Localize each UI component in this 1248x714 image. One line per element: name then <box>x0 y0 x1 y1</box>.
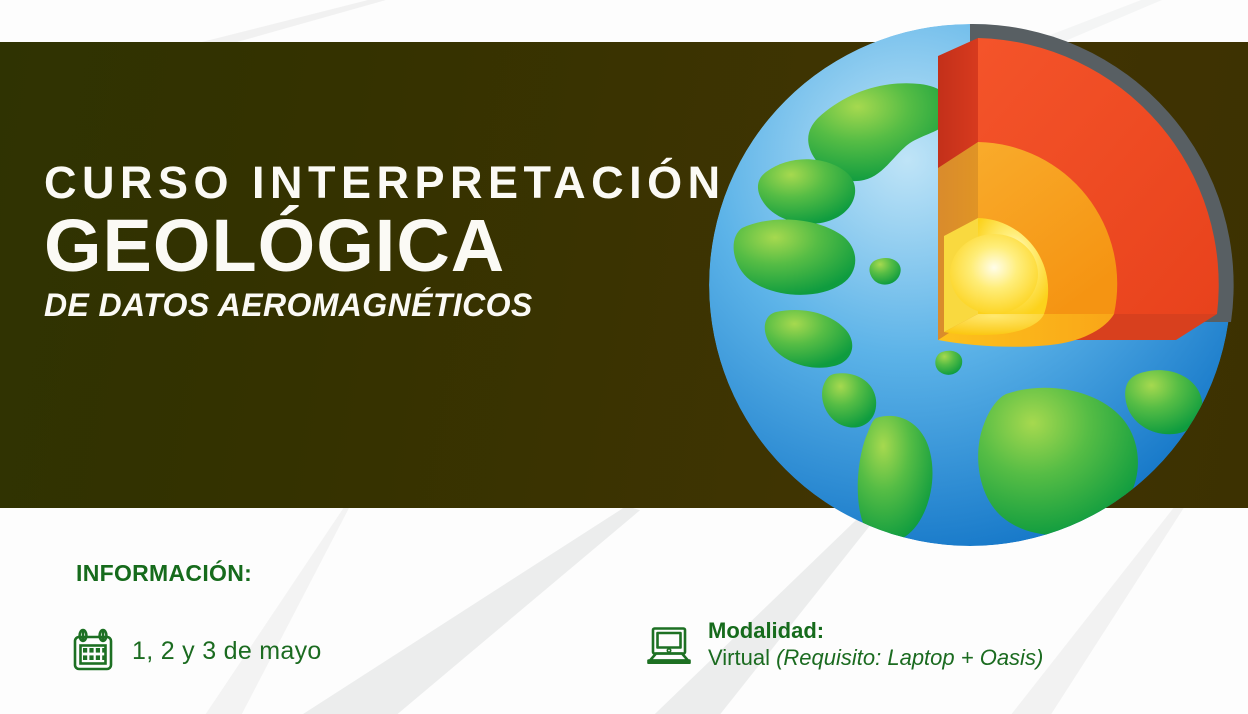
modality-text-block: Modalidad: Virtual (Requisito: Laptop + … <box>708 618 1043 672</box>
earth-cutaway-illustration <box>706 22 1234 548</box>
title-line-2: GEOLÓGICA <box>44 209 726 283</box>
information-heading: INFORMACIÓN: <box>76 560 252 587</box>
modality-label: Modalidad: <box>708 618 1043 645</box>
page-title: CURSO INTERPRETACIÓN GEOLÓGICA DE DATOS … <box>44 160 726 321</box>
modality-value: Virtual (Requisito: Laptop + Oasis) <box>708 645 1043 672</box>
laptop-icon <box>646 622 692 668</box>
watermark-wedge <box>110 0 410 44</box>
inner-core-glow <box>950 234 1038 314</box>
info-item-date: 1, 2 y 3 de mayo <box>70 628 322 674</box>
modality-value-main: Virtual <box>708 645 776 670</box>
info-item-modality: Modalidad: Virtual (Requisito: Laptop + … <box>646 618 1043 672</box>
calendar-icon <box>70 628 116 674</box>
date-value: 1, 2 y 3 de mayo <box>132 637 322 666</box>
information-section: INFORMACIÓN: <box>0 508 1248 714</box>
modality-value-note: (Requisito: Laptop + Oasis) <box>776 645 1043 670</box>
poster-root: CURSO INTERPRETACIÓN GEOLÓGICA DE DATOS … <box>0 0 1248 714</box>
title-line-3: DE DATOS AEROMAGNÉTICOS <box>44 289 726 321</box>
title-line-1: CURSO INTERPRETACIÓN <box>44 160 726 205</box>
